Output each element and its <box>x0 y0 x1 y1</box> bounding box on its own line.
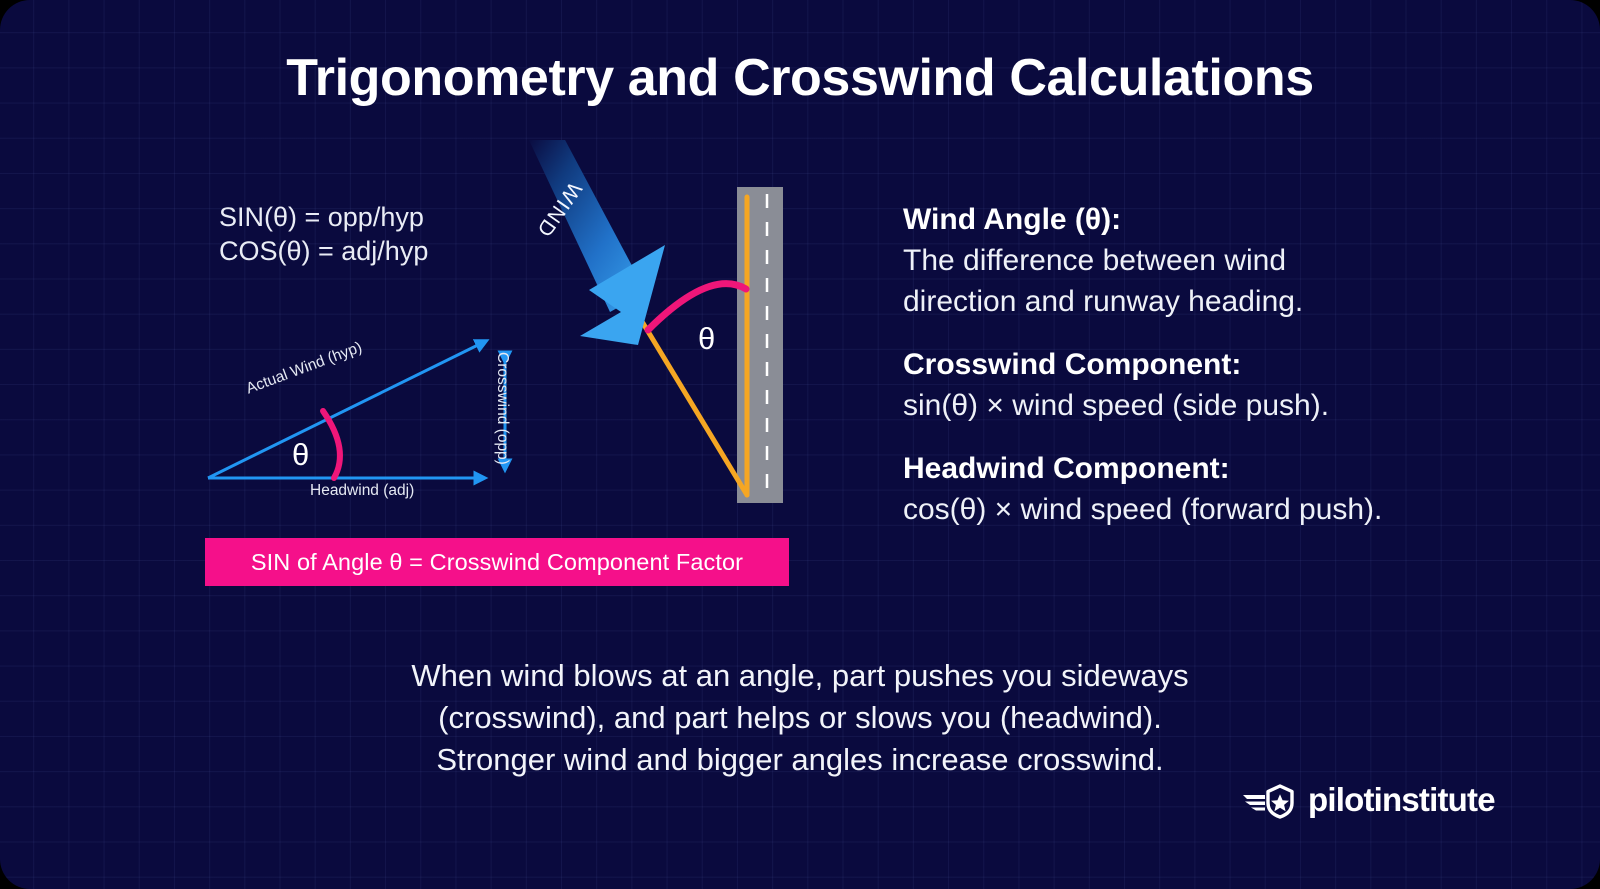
summary-paragraph: When wind blows at an angle, part pushes… <box>0 655 1600 781</box>
triangle-theta-symbol: θ <box>292 437 309 473</box>
crosswind-factor-banner-text: SIN of Angle θ = Crosswind Component Fac… <box>251 549 743 576</box>
block-wind-angle-heading: Wind Angle (θ): <box>903 200 1523 240</box>
explanation-column: Wind Angle (θ): The difference between w… <box>903 200 1523 553</box>
block-headwind-component: Headwind Component: cos(θ) × wind speed … <box>903 449 1523 530</box>
wind-direction-line <box>632 305 747 495</box>
block-crosswind-component: Crosswind Component: sin(θ) × wind speed… <box>903 345 1523 426</box>
page-title: Trigonometry and Crosswind Calculations <box>0 48 1600 108</box>
label-crosswind-opp: Crosswind (opp) <box>493 352 511 465</box>
hypotenuse-vector <box>208 343 482 478</box>
runway-theta-symbol: θ <box>698 321 715 357</box>
block-headwind-component-body: cos(θ) × wind speed (forward push). <box>903 489 1523 530</box>
block-crosswind-component-body: sin(θ) × wind speed (side push). <box>903 385 1523 426</box>
brand-logo: pilotinstitute <box>1243 780 1495 820</box>
runway-angle-arc <box>648 284 746 330</box>
runway-strip <box>737 187 783 503</box>
infographic-card: Trigonometry and Crosswind Calculations … <box>0 0 1600 889</box>
crosswind-factor-banner: SIN of Angle θ = Crosswind Component Fac… <box>205 538 789 586</box>
block-headwind-component-heading: Headwind Component: <box>903 449 1523 489</box>
winged-shield-star-icon <box>1243 780 1299 820</box>
trig-formulas: SIN(θ) = opp/hyp COS(θ) = adj/hyp <box>219 200 428 268</box>
wind-arrow <box>528 140 665 345</box>
brand-logo-text: pilotinstitute <box>1308 781 1495 819</box>
label-headwind-adj: Headwind (adj) <box>310 482 414 500</box>
block-wind-angle-body: The difference between wind direction an… <box>903 240 1523 322</box>
block-wind-angle: Wind Angle (θ): The difference between w… <box>903 200 1523 322</box>
block-crosswind-component-heading: Crosswind Component: <box>903 345 1523 385</box>
